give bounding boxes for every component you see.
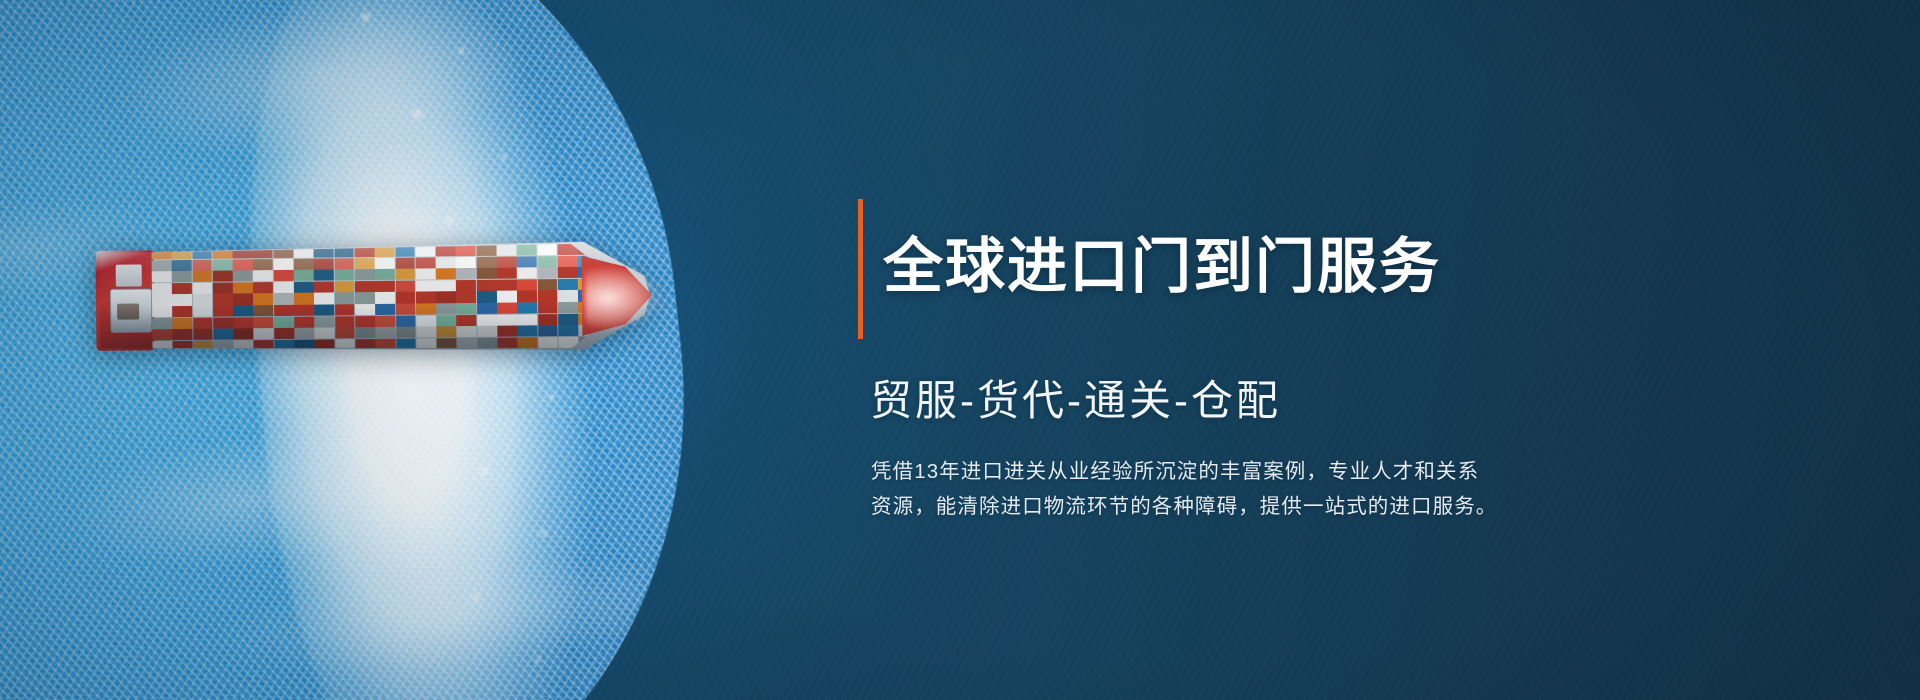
shipping-container [253, 282, 273, 293]
shipping-container [436, 303, 456, 314]
shipping-container [253, 294, 273, 305]
shipping-container [213, 340, 233, 351]
shipping-container [558, 302, 578, 313]
shipping-container [193, 329, 213, 340]
shipping-container [295, 340, 315, 351]
shipping-container [253, 247, 273, 258]
shipping-container [152, 329, 172, 340]
shipping-container [517, 302, 537, 313]
shipping-container [396, 304, 416, 315]
shipping-container [152, 260, 172, 271]
shipping-container [477, 303, 497, 314]
shipping-container [152, 306, 172, 317]
shipping-container [517, 279, 537, 290]
shipping-container [355, 281, 375, 292]
shipping-container [375, 292, 395, 303]
shipping-container [192, 283, 212, 294]
shipping-container [192, 259, 212, 270]
shipping-container [517, 244, 537, 255]
shipping-container [497, 268, 517, 279]
shipping-container [558, 255, 578, 266]
shipping-container [538, 337, 558, 348]
shipping-container [193, 294, 213, 305]
shipping-container [517, 291, 537, 302]
container-stacks [151, 244, 598, 353]
shipping-container [294, 305, 314, 316]
shipping-container [294, 316, 314, 327]
shipping-container [457, 315, 477, 326]
shipping-container [518, 314, 538, 325]
shipping-container [476, 256, 496, 267]
banner-headline: 全球进口门到门服务 [883, 236, 1441, 298]
shipping-container [173, 341, 193, 352]
shipping-container [233, 271, 253, 282]
shipping-container [457, 303, 477, 314]
shipping-container [538, 325, 558, 336]
shipping-container [395, 269, 415, 280]
shipping-container [396, 315, 416, 326]
shipping-container [416, 338, 436, 349]
shipping-container [517, 256, 537, 267]
shipping-container [193, 306, 213, 317]
shipping-container [437, 338, 457, 349]
shipping-container [355, 316, 375, 327]
shipping-container [294, 258, 314, 269]
shipping-container [396, 292, 416, 303]
shipping-container [152, 271, 172, 282]
shipping-container [415, 257, 435, 268]
shipping-container [537, 244, 557, 255]
shipping-container [477, 314, 497, 325]
shipping-container [152, 318, 172, 329]
shipping-container [192, 271, 212, 282]
shipping-container [234, 329, 254, 340]
shipping-container [436, 268, 456, 279]
shipping-container [172, 306, 192, 317]
shipping-container [212, 259, 232, 270]
banner-subheadline: 贸服-货代-通关-仓配 [870, 377, 1778, 424]
shipping-container [274, 270, 294, 281]
shipping-container [213, 329, 233, 340]
shipping-container [457, 326, 477, 337]
shipping-container [375, 281, 395, 292]
shipping-container [274, 317, 294, 328]
shipping-container [456, 291, 476, 302]
shipping-container [273, 247, 293, 258]
shipping-container [294, 293, 314, 304]
shipping-container [497, 291, 517, 302]
shipping-container [172, 248, 192, 259]
container-ship [99, 241, 650, 355]
shipping-container [294, 282, 314, 293]
shipping-container [314, 305, 334, 316]
shipping-container [355, 269, 375, 280]
shipping-container [253, 270, 273, 281]
shipping-container [375, 269, 395, 280]
description-line-2: 资源，能清除进口物流环节的各种障碍，提供一站式的进口服务。 [871, 489, 1751, 524]
shipping-container [172, 318, 192, 329]
shipping-container [497, 303, 517, 314]
shipping-container [335, 281, 355, 292]
shipping-container [436, 280, 456, 291]
shipping-container [254, 328, 274, 339]
shipping-container [314, 293, 334, 304]
shipping-container [538, 314, 558, 325]
shipping-container [436, 257, 456, 268]
shipping-container [213, 306, 233, 317]
shipping-container [335, 328, 355, 339]
shipping-container [436, 292, 456, 303]
shipping-container [416, 315, 436, 326]
shipping-container [476, 268, 496, 279]
shipping-container [436, 315, 456, 326]
shipping-container [537, 279, 557, 290]
shipping-container [233, 282, 253, 293]
shipping-container [375, 316, 395, 327]
shipping-container [355, 327, 375, 338]
shipping-container [254, 305, 274, 316]
shipping-container [233, 247, 253, 258]
shipping-container [456, 257, 476, 268]
shipping-container [254, 340, 274, 351]
banner-description: 凭借13年进口进关从业经验所沉淀的丰富案例，专业人才和关系 资源，能清除进口物流… [871, 454, 1751, 525]
shipping-container [376, 327, 396, 338]
shipping-container [172, 271, 192, 282]
shipping-container [497, 245, 517, 256]
shipping-container [517, 268, 537, 279]
shipping-container [537, 256, 557, 267]
shipping-container [456, 245, 476, 256]
shipping-container [233, 305, 253, 316]
shipping-container [315, 328, 335, 339]
shipping-container [558, 267, 578, 278]
shipping-container [213, 317, 233, 328]
shipping-container [294, 270, 314, 281]
description-line-1: 凭借13年进口进关从业经验所沉淀的丰富案例，专业人才和关系 [871, 454, 1751, 489]
shipping-container [477, 326, 497, 337]
shipping-container [314, 270, 334, 281]
shipping-container [538, 302, 558, 313]
shipping-container [477, 338, 497, 349]
shipping-container [314, 281, 334, 292]
shipping-container [497, 326, 517, 337]
shipping-container [457, 338, 477, 349]
shipping-container [456, 268, 476, 279]
banner-text-block: 全球进口门到门服务 贸服-货代-通关-仓配 凭借13年进口进关从业经验所沉淀的丰… [858, 196, 1778, 524]
shipping-container [213, 271, 233, 282]
accent-bar [858, 199, 863, 339]
shipping-container [274, 282, 294, 293]
shipping-container [233, 294, 253, 305]
shipping-container [395, 280, 415, 291]
shipping-container [477, 280, 497, 291]
shipping-container [192, 248, 212, 259]
shipping-container [152, 283, 172, 294]
shipping-container [436, 326, 456, 337]
shipping-container [335, 316, 355, 327]
shipping-container [456, 280, 476, 291]
shipping-container [213, 294, 233, 305]
shipping-container [476, 245, 496, 256]
shipping-container [233, 317, 253, 328]
shipping-container [294, 328, 314, 339]
shipping-container [212, 247, 232, 258]
shipping-container [334, 269, 354, 280]
shipping-container [416, 303, 436, 314]
shipping-container [497, 279, 517, 290]
shipping-container [193, 317, 213, 328]
shipping-container [416, 280, 436, 291]
shipping-container [234, 340, 254, 351]
shipping-container [477, 291, 497, 302]
shipping-container [193, 341, 213, 352]
shipping-container [274, 340, 294, 351]
shipping-container [334, 258, 354, 269]
shipping-container [173, 329, 193, 340]
shipping-container [355, 304, 375, 315]
shipping-container [537, 267, 557, 278]
shipping-container [396, 327, 416, 338]
shipping-container [335, 304, 355, 315]
shipping-container [274, 328, 294, 339]
shipping-container [558, 290, 578, 301]
shipping-container [294, 247, 314, 258]
ship-funnel [116, 264, 142, 286]
shipping-container [355, 258, 375, 269]
shipping-container [172, 294, 192, 305]
headline-row: 全球进口门到门服务 [858, 196, 1778, 339]
ship-bridge-superstructure [110, 288, 152, 332]
ship-bow [582, 255, 653, 336]
shipping-container [538, 291, 558, 302]
shipping-container [497, 256, 517, 267]
shipping-container [497, 314, 517, 325]
shipping-container [436, 245, 456, 256]
shipping-container [273, 258, 293, 269]
shipping-container [172, 260, 192, 271]
shipping-container [274, 293, 294, 304]
shipping-container [213, 282, 233, 293]
shipping-container [558, 314, 578, 325]
shipping-container [152, 341, 172, 352]
shipping-container [375, 257, 395, 268]
shipping-container [152, 295, 172, 306]
shipping-container [253, 259, 273, 270]
shipping-container [518, 326, 538, 337]
shipping-container [355, 292, 375, 303]
shipping-container [314, 258, 334, 269]
shipping-container [233, 259, 253, 270]
hero-banner: 全球进口门到门服务 贸服-货代-通关-仓配 凭借13年进口进关从业经验所沉淀的丰… [0, 0, 1920, 700]
shipping-container [151, 248, 171, 259]
shipping-container [498, 337, 518, 348]
shipping-container [416, 327, 436, 338]
shipping-container [395, 257, 415, 268]
shipping-container [335, 293, 355, 304]
shipping-container [315, 316, 335, 327]
shipping-container [518, 337, 538, 348]
shipping-container [274, 305, 294, 316]
shipping-container [416, 292, 436, 303]
shipping-container [558, 325, 578, 336]
shipping-container [172, 283, 192, 294]
shipping-container [375, 304, 395, 315]
shipping-container [416, 269, 436, 280]
shipping-container [558, 279, 578, 290]
shipping-container [254, 317, 274, 328]
